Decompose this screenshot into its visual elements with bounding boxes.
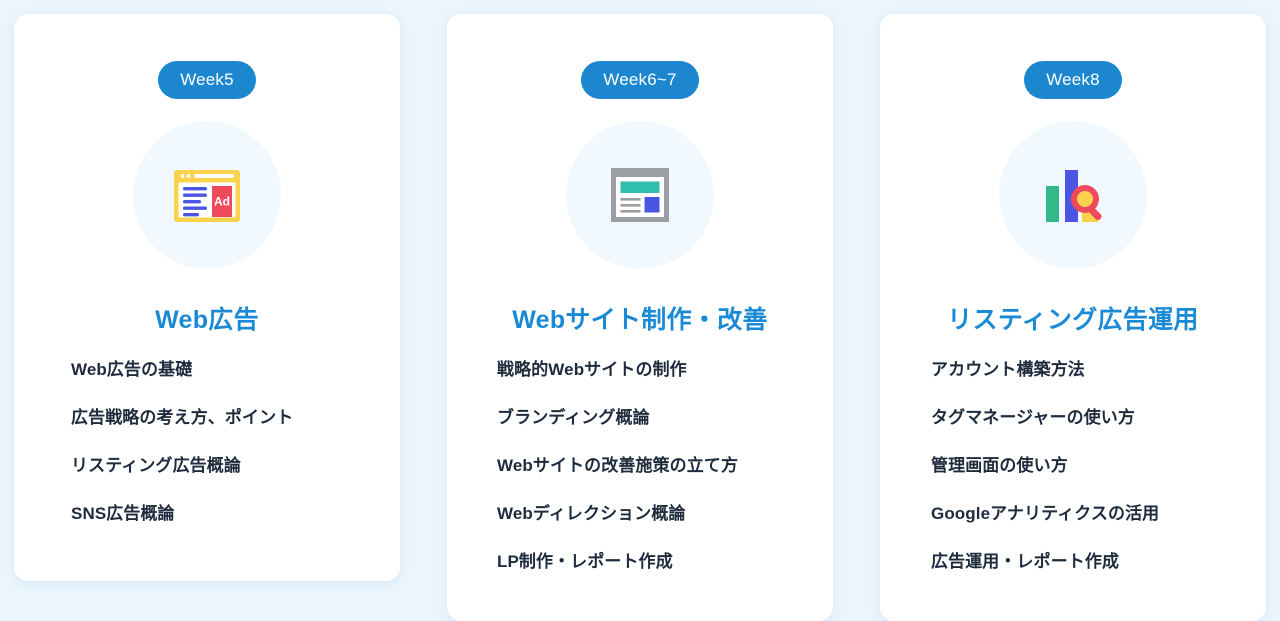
week-badge: Week5: [158, 61, 256, 99]
topic-item: リスティング広告概論: [14, 455, 400, 478]
week-badge: Week6~7: [581, 61, 698, 99]
card-title: リスティング広告運用: [947, 305, 1199, 335]
topic-item: 戦略的Webサイトの制作: [447, 359, 833, 382]
topic-item: タグマネージャーの使い方: [880, 407, 1266, 430]
web-page-layout-icon: [602, 157, 678, 233]
icon-halo: [999, 121, 1147, 269]
topic-item: Web広告の基礎: [14, 359, 400, 382]
topic-item: Webディレクション概論: [447, 503, 833, 526]
icon-halo: [566, 121, 714, 269]
topic-item: LP制作・レポート作成: [447, 551, 833, 574]
topic-item: SNS広告概論: [14, 503, 400, 526]
curriculum-card-board: Week5 Ad Web広告: [0, 0, 1280, 601]
topic-list: アカウント構築方法 タグマネージャーの使い方 管理画面の使い方 Googleアナ…: [880, 359, 1266, 599]
svg-text:Ad: Ad: [214, 195, 230, 209]
topic-item: アカウント構築方法: [880, 359, 1266, 382]
web-ad-banner-icon: Ad: [169, 157, 245, 233]
topic-item: 広告運用・レポート作成: [880, 551, 1266, 574]
bar-chart-magnifier-icon: [1035, 157, 1111, 233]
card-title: Webサイト制作・改善: [512, 305, 768, 335]
topic-list: 戦略的Webサイトの制作 ブランディング概論 Webサイトの改善施策の立て方 W…: [447, 359, 833, 599]
curriculum-card-week6-7[interactable]: Week6~7 Webサイト制作・改善 戦略的Webサイトの制作 ブランディング…: [447, 14, 833, 621]
topic-item: Googleアナリティクスの活用: [880, 503, 1266, 526]
topic-item: 広告戦略の考え方、ポイント: [14, 407, 400, 430]
topic-item: 管理画面の使い方: [880, 455, 1266, 478]
curriculum-card-week5[interactable]: Week5 Ad Web広告: [14, 14, 400, 581]
week-badge: Week8: [1024, 61, 1122, 99]
topic-item: Webサイトの改善施策の立て方: [447, 455, 833, 478]
icon-halo: Ad: [133, 121, 281, 269]
topic-list: Web広告の基礎 広告戦略の考え方、ポイント リスティング広告概論 SNS広告概…: [14, 359, 400, 551]
card-title: Web広告: [155, 305, 259, 335]
curriculum-card-week8[interactable]: Week8 リスティング広告運用 アカウント構築方法 タグマネージャーの使い方 …: [880, 14, 1266, 621]
topic-item: ブランディング概論: [447, 407, 833, 430]
